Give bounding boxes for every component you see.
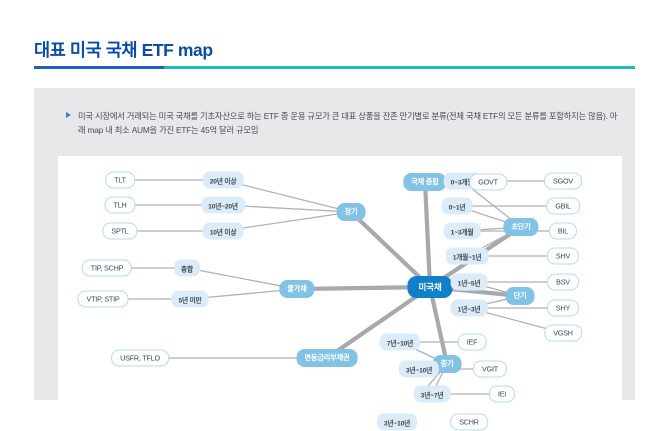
underline-segment-teal xyxy=(164,66,635,69)
mindmap-maturity-node[interactable]: 7년~10년 xyxy=(380,334,420,351)
bullet-triangle-icon xyxy=(66,112,71,118)
description-block: 미국 시장에서 거래되는 미국 국채를 기초자산으로 하는 ETF 중 운용 규… xyxy=(78,110,618,137)
mindmap-maturity-node[interactable]: 1개월~1년 xyxy=(446,248,489,265)
mindmap-maturity-node[interactable]: 0~1년 xyxy=(442,198,473,215)
mindmap-ticker-node[interactable]: IEF xyxy=(458,334,487,351)
mindmap-category-node[interactable]: 장기 xyxy=(337,203,366,221)
mindmap-ticker-node[interactable]: GOVT xyxy=(469,174,507,191)
page-title: 대표 미국 국채 ETF map xyxy=(34,40,213,60)
mindmap-category-node[interactable]: 변동금리부채권 xyxy=(297,349,358,367)
mindmap-maturity-node[interactable]: 20년 이상 xyxy=(203,172,244,189)
mindmap-ticker-node[interactable]: VTIP, STIP xyxy=(77,291,128,308)
mindmap-maturity-node[interactable]: 1~3개월 xyxy=(444,223,481,240)
mindmap-maturity-node[interactable]: 3년~10년 xyxy=(377,414,417,431)
mindmap-maturity-node[interactable]: 5년 미만 xyxy=(171,291,208,308)
mindmap-maturity-node[interactable]: 1년~3년 xyxy=(451,300,488,317)
mindmap-category-node[interactable]: 초단기 xyxy=(503,218,538,236)
mindmap-ticker-node[interactable]: BSV xyxy=(547,274,579,291)
mindmap-category-node[interactable]: 물가채 xyxy=(279,280,314,298)
mindmap-ticker-node[interactable]: USFR, TFLO xyxy=(111,350,169,367)
mindmap-maturity-node[interactable]: 10년 이상 xyxy=(203,223,244,240)
mindmap-root-node[interactable]: 미국채 xyxy=(407,276,452,298)
page-root: 대표 미국 국채 ETF map 미국 시장에서 거래되는 미국 국채를 기초자… xyxy=(0,0,670,400)
page-title-text: 대표 미국 국채 ETF map xyxy=(34,40,213,60)
content-panel: 미국 시장에서 거래되는 미국 국채를 기초자산으로 하는 ETF 중 운용 규… xyxy=(34,88,635,400)
mindmap-ticker-node[interactable]: TLH xyxy=(105,197,136,214)
mindmap-category-node[interactable]: 국채 종합 xyxy=(403,173,446,191)
mindmap-maturity-node[interactable]: 3년~10년 xyxy=(399,361,439,378)
title-underline xyxy=(34,66,635,69)
description-text: 미국 시장에서 거래되는 미국 국채를 기초자산으로 하는 ETF 중 운용 규… xyxy=(78,111,617,135)
mindmap-ticker-node[interactable]: GBIL xyxy=(546,198,580,215)
mindmap-maturity-node[interactable]: 1년~5년 xyxy=(451,274,488,291)
mindmap-ticker-node[interactable]: SHY xyxy=(547,300,579,317)
underline-segment-blue xyxy=(34,66,164,69)
mindmap-ticker-node[interactable]: TLT xyxy=(105,172,135,189)
mindmap-maturity-node[interactable]: 10년~20년 xyxy=(201,197,245,214)
mindmap-ticker-node[interactable]: SGOV xyxy=(544,173,582,190)
mindmap-ticker-node[interactable]: SCHR xyxy=(450,414,488,431)
mindmap-ticker-node[interactable]: SPTL xyxy=(102,223,137,240)
mindmap-ticker-node[interactable]: TIP, SCHP xyxy=(82,260,132,277)
mindmap-maturity-node[interactable]: 종합 xyxy=(174,260,200,277)
mindmap-card: 미국채국채 종합장기물가채변동금리부채권초단기단기중기20년 이상10년~20년… xyxy=(58,156,622,400)
mindmap-ticker-node[interactable]: VGSH xyxy=(544,325,582,342)
connector-line xyxy=(430,287,447,364)
mindmap-ticker-node[interactable]: SHV xyxy=(547,248,579,265)
mindmap-category-node[interactable]: 단기 xyxy=(506,287,535,305)
connector-line xyxy=(425,182,430,287)
mindmap-ticker-node[interactable]: VGIT xyxy=(473,361,507,378)
mindmap-ticker-node[interactable]: BIL xyxy=(549,223,577,240)
mindmap: 미국채국채 종합장기물가채변동금리부채권초단기단기중기20년 이상10년~20년… xyxy=(58,156,622,400)
